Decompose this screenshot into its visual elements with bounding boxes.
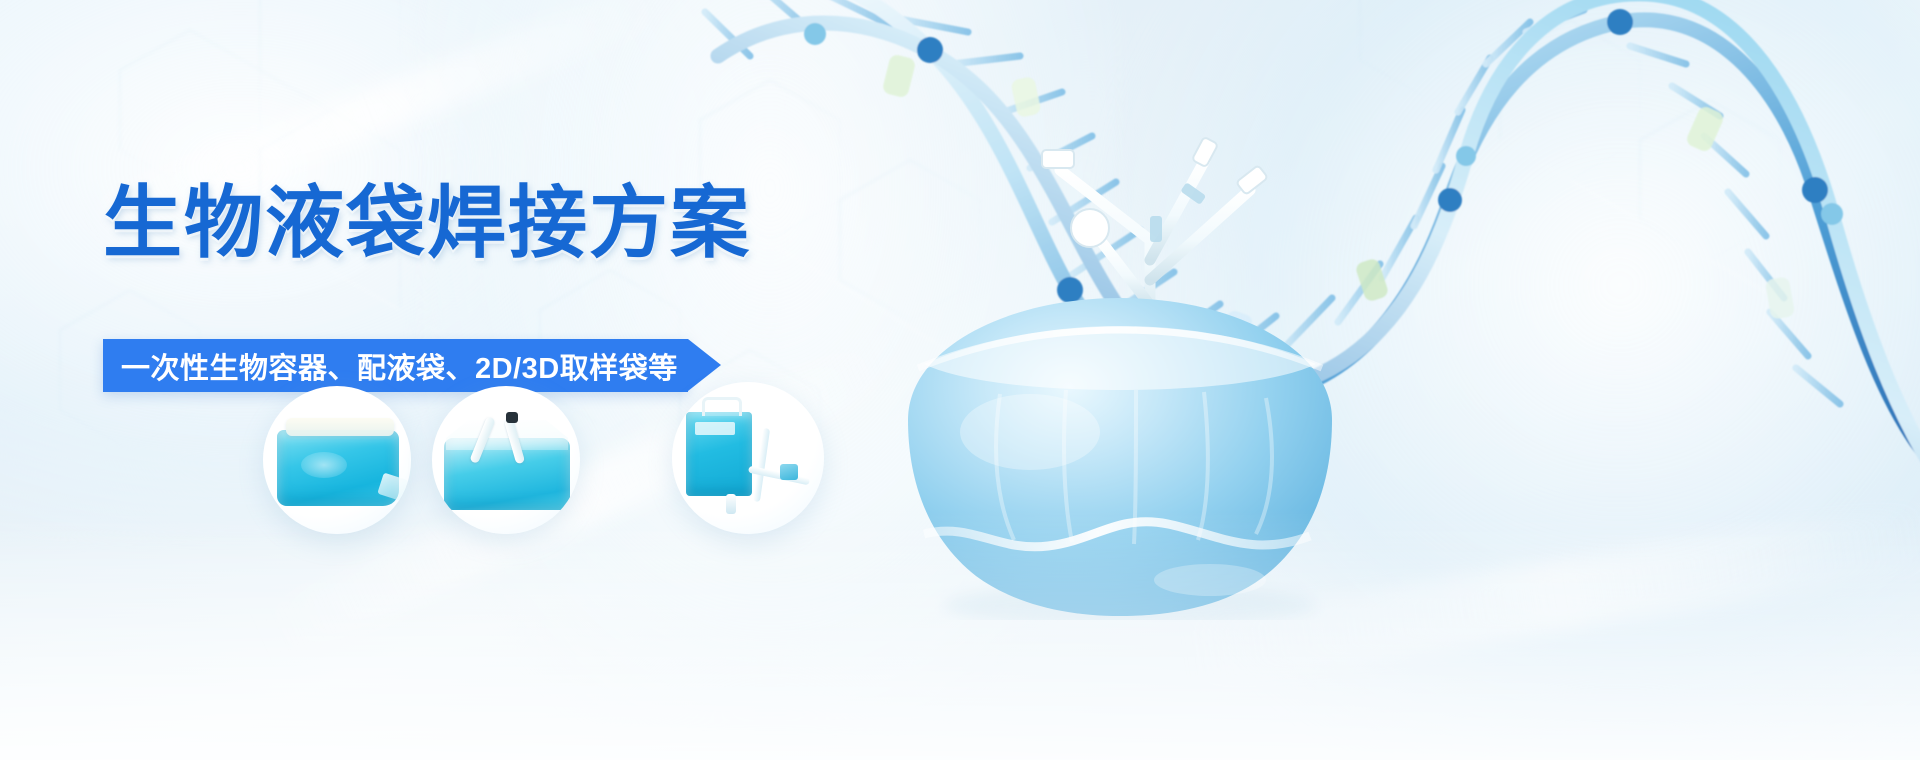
bag-tube-clamp xyxy=(506,412,518,423)
subtitle-ribbon: 一次性生物容器、配液袋、2D/3D取样袋等 xyxy=(103,339,688,392)
ribbon-arrow-icon xyxy=(688,339,721,391)
bag-hanger xyxy=(702,397,742,416)
bag-port xyxy=(726,494,736,514)
liquid-bag-2d-icon xyxy=(277,430,399,506)
subtitle-ribbon-body: 一次性生物容器、配液袋、2D/3D取样袋等 xyxy=(103,339,688,392)
sampling-bag-3d-icon xyxy=(686,412,752,496)
product-thumb-sampling-bag-3d[interactable] xyxy=(672,382,824,534)
bottom-haze xyxy=(0,510,1920,760)
product-thumb-liquid-bag-2d[interactable] xyxy=(263,386,411,534)
hero-banner: 生物液袋焊接方案 一次性生物容器、配液袋、2D/3D取样袋等 xyxy=(0,0,1920,760)
product-thumb-liquid-bag-tubing[interactable] xyxy=(432,386,580,534)
bag-label xyxy=(695,422,735,435)
bag-tube-vertical xyxy=(753,428,770,502)
subtitle-text: 一次性生物容器、配液袋、2D/3D取样袋等 xyxy=(121,345,678,387)
page-title: 生物液袋焊接方案 xyxy=(103,180,751,265)
bag-connector xyxy=(780,464,798,480)
liquid-bag-tubing-icon xyxy=(444,438,570,510)
bag-highlight xyxy=(301,452,347,478)
